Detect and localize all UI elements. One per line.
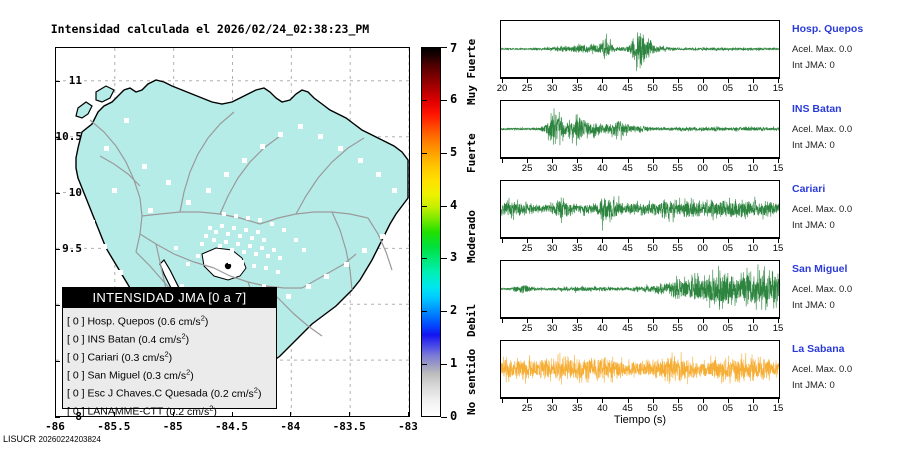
waveform-row-cariari: 25 30 35 40 45 50 55 00 05 10 15 Cariari…: [495, 180, 910, 260]
waveform-plot: [500, 20, 780, 78]
colorbar-category-no-sentido: No sentido: [465, 337, 478, 415]
waveform-plot: [500, 100, 780, 158]
list-item: [ 0 ] San Miguel (0.3 cm/s2): [67, 365, 276, 383]
waveform-x-axis-label: Tiempo (s): [500, 414, 780, 426]
waveform-trace: [501, 181, 779, 237]
station-accel: Acel. Max. 0.0: [792, 44, 852, 55]
legend-station: Hosp. Quepos: [87, 316, 154, 328]
legend-station: LANAMME-CTT: [87, 406, 163, 418]
legend-accel: 0.2: [170, 406, 185, 418]
legend-accel: 0.6: [161, 316, 176, 328]
legend-intensity: [ 0 ]: [67, 316, 85, 328]
legend-station: Cariari: [87, 352, 118, 364]
legend-title: INTENSIDAD JMA [0 a 7]: [63, 288, 276, 308]
legend-intensity: [ 0 ]: [67, 406, 85, 418]
station-name: La Sabana: [792, 343, 845, 355]
legend-unit: cm/s: [187, 406, 209, 418]
station-accel: Acel. Max. 0.0: [792, 124, 852, 135]
page-title: Intensidad calculada el 2026/02/24_02:38…: [0, 22, 420, 36]
legend-station: San Miguel: [87, 370, 140, 382]
waveform-x-axis: 25 30 35 40 45 50 55 00 05 10 15: [500, 238, 780, 256]
legend-intensity: [ 0 ]: [67, 334, 85, 346]
colorbar-tick-6: 6: [450, 92, 457, 106]
colorbar-category-moderado: Moderado: [465, 173, 478, 263]
colorbar-tick-3: 3: [450, 250, 457, 264]
legend-unit: cm/s: [142, 352, 164, 364]
station-name: San Miguel: [792, 263, 847, 275]
intensity-legend: INTENSIDAD JMA [0 a 7] [ 0 ] Hosp. Quepo…: [62, 287, 277, 409]
list-item: [ 0 ] Hosp. Quepos (0.6 cm/s2): [67, 311, 276, 329]
x-tick: 15: [763, 323, 793, 334]
legend-unit: cm/s: [232, 388, 254, 400]
x-tick: 15: [763, 243, 793, 254]
legend-exp: 2: [209, 403, 213, 412]
waveform-x-axis: 25 30 35 40 45 50 55 00 05 10 15: [500, 158, 780, 176]
station-name: INS Batan: [792, 103, 842, 115]
legend-accel: 0.3: [146, 370, 161, 382]
waveform-trace: [501, 261, 779, 317]
legend-accel: 0.2: [214, 388, 229, 400]
colorbar-category-muy-fuerte: Muy Fuerte: [465, 47, 478, 105]
waveform-trace: [501, 101, 779, 157]
colorbar-tick-1: 1: [450, 356, 457, 370]
legend-exp: 2: [181, 331, 185, 340]
list-item: [ 0 ] INS Batan (0.4 cm/s2): [67, 329, 276, 347]
waveform-panel: 20 25 30 35 40 45 50 55 00 05 10 15 Hosp…: [495, 0, 910, 460]
waveform-x-axis: 20 25 30 35 40 45 50 55 00 05 10 15: [500, 78, 780, 96]
legend-exp: 2: [254, 385, 258, 394]
watermark-code: 20260224203824: [39, 435, 101, 444]
station-name: Hosp. Quepos: [792, 23, 863, 35]
list-item: [ 0 ] Cariari (0.3 cm/s2): [67, 347, 276, 365]
legend-intensity: [ 0 ]: [67, 352, 85, 364]
waveform-row-hosp-quepos: 20 25 30 35 40 45 50 55 00 05 10 15 Hosp…: [495, 20, 910, 100]
legend-exp: 2: [164, 349, 168, 358]
legend-exp: 2: [201, 313, 205, 322]
legend-intensity: [ 0 ]: [67, 370, 85, 382]
legend-unit: cm/s: [179, 316, 201, 328]
legend-exp: 2: [186, 367, 190, 376]
station-accel: Acel. Max. 0.0: [792, 204, 852, 215]
legend-intensity: [ 0 ]: [67, 388, 85, 400]
watermark-label: LISUCR: [3, 434, 36, 444]
colorbar-tick-2: 2: [450, 303, 457, 317]
colorbar-tick-0: 0: [450, 409, 457, 423]
waveform-x-axis: 25 30 35 40 45 50 55 00 05 10 15: [500, 318, 780, 336]
waveform-row-ins-batan: 25 30 35 40 45 50 55 00 05 10 15 INS Bat…: [495, 100, 910, 180]
seismic-intensity-figure: Intensidad calculada el 2026/02/24_02:38…: [0, 0, 910, 460]
station-accel: Acel. Max. 0.0: [792, 284, 852, 295]
waveform-trace: [501, 341, 779, 397]
intensity-colorbar: 0 1 2 3 4 5 6 7 No sentido Debil Moderad…: [421, 47, 495, 417]
colorbar-tick-5: 5: [450, 145, 457, 159]
waveform-plot: [500, 180, 780, 238]
colorbar-category-fuerte: Fuerte: [465, 105, 478, 173]
waveform-plot: [500, 260, 780, 318]
station-jma: Int JMA: 0: [792, 60, 835, 71]
legend-station: INS Batan: [87, 334, 135, 346]
list-item: [ 0 ] LANAMME-CTT (0.2 cm/s2): [67, 401, 276, 419]
waveform-plot: [500, 340, 780, 398]
legend-rows: [ 0 ] Hosp. Quepos (0.6 cm/s2) [ 0 ] INS…: [63, 308, 276, 419]
legend-station: Esc J Chaves.C Quesada: [87, 388, 207, 400]
waveform-row-san-miguel: 25 30 35 40 45 50 55 00 05 10 15 San Mig…: [495, 260, 910, 340]
station-jma: Int JMA: 0: [792, 220, 835, 231]
legend-unit: cm/s: [159, 334, 181, 346]
legend-accel: 0.4: [142, 334, 157, 346]
watermark: LISUCR 20260224203824: [3, 434, 101, 444]
list-item: [ 0 ] Esc J Chaves.C Quesada (0.2 cm/s2): [67, 383, 276, 401]
colorbar-tick-4: 4: [450, 198, 457, 212]
station-jma: Int JMA: 0: [792, 380, 835, 391]
legend-accel: 0.3: [125, 352, 140, 364]
waveform-trace: [501, 21, 779, 77]
legend-unit: cm/s: [164, 370, 186, 382]
station-accel: Acel. Max. 0.0: [792, 364, 852, 375]
colorbar-gradient: [421, 47, 441, 417]
x-tick: 15: [763, 403, 793, 414]
station-jma: Int JMA: 0: [792, 300, 835, 311]
station-name: Cariari: [792, 183, 825, 195]
colorbar-tick-7: 7: [450, 41, 457, 55]
station-jma: Int JMA: 0: [792, 140, 835, 151]
x-tick: 15: [763, 83, 793, 94]
colorbar-category-debil: Debil: [465, 263, 478, 337]
waveform-row-la-sabana: 25 30 35 40 45 50 55 00 05 10 15 La Saba…: [495, 340, 910, 420]
x-tick: 15: [763, 163, 793, 174]
